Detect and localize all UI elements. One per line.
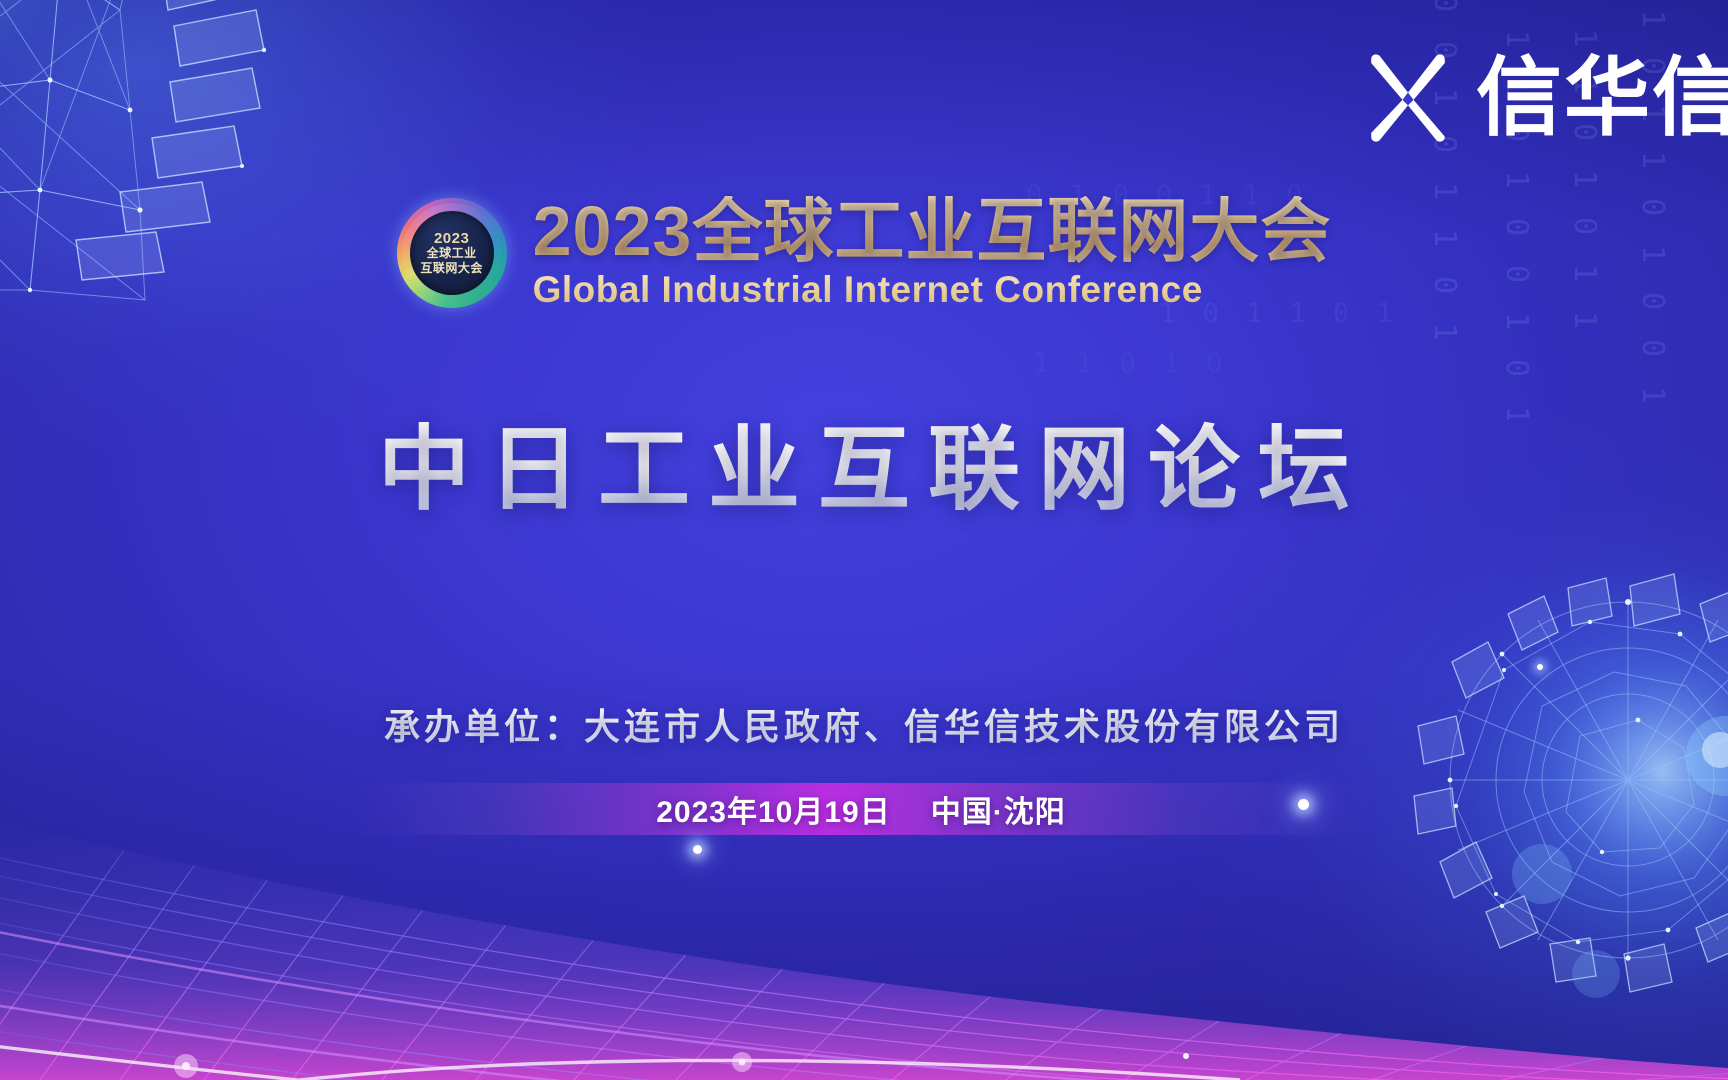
conference-poster: 1 0 1 1 0 1 0 0 1 0 1 1 0 1 0 1 1 1 1 0 … xyxy=(0,0,1728,1080)
organizer-line: 承办单位：大连市人民政府、信华信技术股份有限公司 xyxy=(0,698,1728,750)
brand-name: 信华信 xyxy=(1476,55,1728,141)
conference-title-block: 2023全球工业互联网大会 Global Industrial Internet… xyxy=(533,196,1332,310)
light-spark xyxy=(693,845,702,854)
emblem-year: 2023 xyxy=(434,231,469,246)
background-vignette xyxy=(0,0,1728,1080)
conference-title-en: Global Industrial Internet Conference xyxy=(533,271,1203,310)
conference-title-cn: 2023全球工业互联网大会 xyxy=(533,196,1332,267)
event-venue: 中国·沈阳 xyxy=(931,787,1066,831)
company-logo: 信华信 xyxy=(1362,52,1728,144)
network-sphere-icon xyxy=(0,0,350,380)
forum-title: 中日工业互联网论坛 xyxy=(0,420,1728,521)
date-venue-bar: 2023年10月19日 中国·沈阳 xyxy=(352,783,1370,835)
network-sphere-icon xyxy=(1328,530,1728,1050)
conference-lockup: 2023 全球工业 互联网大会 2023全球工业互联网大会 Global Ind… xyxy=(0,196,1728,310)
emblem-core: 2023 全球工业 互联网大会 xyxy=(410,211,494,295)
emblem-line-1: 全球工业 xyxy=(427,247,477,261)
emblem-line-2: 互联网大会 xyxy=(420,262,483,276)
binary-row: 1 1 0 1 0 xyxy=(1033,350,1228,378)
conference-emblem: 2023 全球工业 互联网大会 xyxy=(397,198,507,308)
xinhuaxin-x-mark-icon xyxy=(1362,52,1454,144)
light-spark xyxy=(1537,664,1543,670)
event-date: 2023年10月19日 xyxy=(656,787,890,831)
